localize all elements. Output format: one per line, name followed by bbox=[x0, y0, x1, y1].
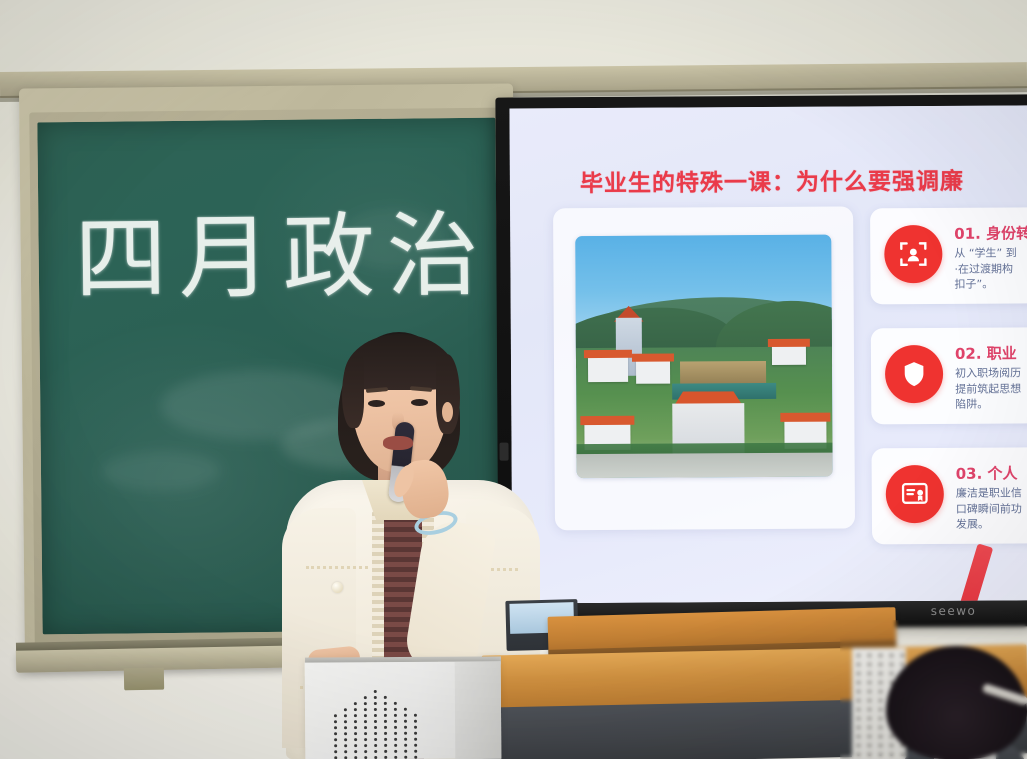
slide-card-03-heading: 03. 个人 bbox=[956, 462, 1027, 484]
chair-perforation-dot bbox=[879, 726, 882, 729]
chair-perforation-dot bbox=[868, 699, 871, 702]
slide-title: 毕业生的特殊一课：为什么要强调廉 bbox=[580, 161, 1027, 198]
blackboard-chalk-text: 四月政治 bbox=[74, 210, 475, 306]
slide-ribbon-decoration bbox=[952, 543, 994, 603]
speaker-grille-dot bbox=[334, 714, 337, 717]
foreground-student bbox=[886, 646, 1027, 759]
speaker-grille-dot bbox=[394, 750, 397, 753]
chair-perforation-dot bbox=[857, 663, 860, 666]
speaker-grille-dot bbox=[414, 744, 417, 747]
speaker-grille-dot bbox=[374, 690, 377, 693]
speaker-grille-dot bbox=[364, 738, 367, 741]
person-in-frame-icon bbox=[884, 225, 942, 283]
photo-building bbox=[636, 360, 670, 384]
slide-card-02-heading: 02. 职业 bbox=[955, 342, 1027, 364]
speaker-grille-dot bbox=[354, 732, 357, 735]
chair-perforation-dot bbox=[857, 672, 860, 675]
chair-perforation-dot bbox=[879, 717, 882, 720]
speaker-grille-dot bbox=[414, 720, 417, 723]
speaker-grille-dot bbox=[374, 696, 377, 699]
student-hair bbox=[886, 646, 1027, 759]
speaker-grille-dot bbox=[404, 732, 407, 735]
speaker-grille-dot bbox=[354, 702, 357, 705]
speaker-grille-dot bbox=[354, 708, 357, 711]
speaker-grille-dot bbox=[404, 708, 407, 711]
speaker-grille-dot bbox=[344, 726, 347, 729]
chair-perforation-dot bbox=[868, 672, 871, 675]
chair-perforation-dot bbox=[857, 654, 860, 657]
speaker-grille-dot bbox=[364, 750, 367, 753]
speaker-grille-dot bbox=[384, 750, 387, 753]
speaker-grille-dot bbox=[384, 702, 387, 705]
speaker-grille-dot bbox=[394, 708, 397, 711]
presentation-slide: 毕业生的特殊一课：为什么要强调廉 bbox=[509, 105, 1027, 603]
slide-card-02-number: 02. bbox=[955, 345, 982, 363]
speaker-grille-dot bbox=[364, 702, 367, 705]
chair-perforation-dot bbox=[868, 654, 871, 657]
photo-roof bbox=[584, 350, 632, 358]
chair-perforation-dot bbox=[868, 681, 871, 684]
speaker-grille-dot bbox=[374, 702, 377, 705]
speaker-grille-dot bbox=[394, 738, 397, 741]
presenter-ear bbox=[442, 402, 453, 422]
photo-building bbox=[588, 356, 628, 382]
panel-screen[interactable]: 毕业生的特殊一课：为什么要强调廉 bbox=[509, 105, 1027, 603]
speaker-grille-dot bbox=[354, 750, 357, 753]
speaker-grille-dot bbox=[394, 714, 397, 717]
photo-roof bbox=[768, 339, 810, 347]
chair-perforation-dot bbox=[879, 690, 882, 693]
slide-card-01-body: 从 “学生” 到 ·在过渡期构 扣子”。 bbox=[954, 245, 1027, 293]
speaker-grille-dot bbox=[394, 756, 397, 759]
chair-perforation-dot bbox=[857, 681, 860, 684]
speaker-grille-dot bbox=[404, 738, 407, 741]
slide-card-01-number: 01. bbox=[954, 225, 981, 243]
chair-perforation-dot bbox=[857, 753, 860, 756]
speaker-grille-dot bbox=[394, 744, 397, 747]
speaker-grille-dot bbox=[334, 732, 337, 735]
chair-perforation-dot bbox=[879, 735, 882, 738]
speaker-grille-dot bbox=[384, 756, 387, 759]
shield-icon bbox=[885, 345, 943, 403]
presenter-hair-right bbox=[436, 354, 460, 434]
chair-perforation-dot bbox=[857, 690, 860, 693]
speaker-grille-dot bbox=[404, 720, 407, 723]
speaker-grille-dot bbox=[384, 744, 387, 747]
speaker-grille-dot bbox=[374, 726, 377, 729]
speaker-grille-dot bbox=[344, 708, 347, 711]
speaker-grille-dot bbox=[334, 750, 337, 753]
speaker-grille-dot bbox=[384, 738, 387, 741]
speaker-grille-dot bbox=[374, 714, 377, 717]
speaker-grille-dot bbox=[384, 696, 387, 699]
slide-photo-card bbox=[553, 206, 855, 530]
speaker-grille-dot bbox=[414, 726, 417, 729]
slide-card-03-body: 廉洁是职业信 口碑瞬间前功 发展。 bbox=[956, 485, 1027, 533]
chair-perforation-dot bbox=[879, 654, 882, 657]
slide-card-01: 01. 身份转 从 “学生” 到 ·在过渡期构 扣子”。 bbox=[870, 207, 1027, 304]
speaker-grille-dot bbox=[364, 708, 367, 711]
chair-perforation-dot bbox=[868, 663, 871, 666]
chair-perforation-dot bbox=[868, 717, 871, 720]
chair-perforation-dot bbox=[857, 735, 860, 738]
speaker-grille-dot bbox=[384, 726, 387, 729]
speaker-grille-dot bbox=[344, 750, 347, 753]
presenter-hair-left bbox=[342, 356, 364, 428]
presenter-jacket-button bbox=[332, 582, 343, 593]
speaker-grille-dot bbox=[364, 726, 367, 729]
chair-perforation-dot bbox=[879, 672, 882, 675]
chair-perforation-dot bbox=[857, 744, 860, 747]
slide-card-01-heading: 01. 身份转 bbox=[954, 222, 1027, 244]
podium-speaker-grille bbox=[330, 688, 422, 759]
slide-card-02-title: 职业 bbox=[987, 344, 1017, 362]
speaker-grille-dot bbox=[354, 738, 357, 741]
speaker-grille-dot bbox=[414, 750, 417, 753]
chalk-tray-bracket bbox=[124, 668, 164, 691]
chair-perforation-dot bbox=[868, 735, 871, 738]
slide-card-03-number: 03. bbox=[956, 465, 983, 483]
panel-brand-label: seewo bbox=[893, 603, 1013, 618]
presenter-eye bbox=[368, 400, 385, 407]
speaker-grille-dot bbox=[354, 720, 357, 723]
speaker-grille-dot bbox=[334, 738, 337, 741]
speaker-grille-dot bbox=[344, 744, 347, 747]
speaker-grille-dot bbox=[374, 732, 377, 735]
speaker-grille-dot bbox=[354, 714, 357, 717]
slide-card-02-body: 初入职场阅历 提前筑起思想 陷阱。 bbox=[955, 365, 1027, 413]
chalk-smudge bbox=[101, 451, 221, 492]
chair-perforation-dot bbox=[857, 699, 860, 702]
campus-aerial-photo bbox=[575, 235, 832, 479]
slide-card-03-title: 个人 bbox=[987, 464, 1017, 482]
slide-card-03: 03. 个人 廉洁是职业信 口碑瞬间前功 发展。 bbox=[872, 447, 1027, 544]
chair-perforation-dot bbox=[879, 699, 882, 702]
speaker-grille-dot bbox=[414, 756, 417, 759]
photo-roof bbox=[632, 354, 674, 362]
speaker-grille-dot bbox=[384, 732, 387, 735]
speaker-grille-dot bbox=[354, 726, 357, 729]
chair-perforation-dot bbox=[868, 726, 871, 729]
speaker-grille-dot bbox=[394, 726, 397, 729]
speaker-grille-dot bbox=[344, 732, 347, 735]
photo-plaza bbox=[577, 453, 833, 479]
speaker-grille-dot bbox=[404, 744, 407, 747]
chair-perforation-dot bbox=[879, 681, 882, 684]
photo-roof bbox=[580, 416, 634, 425]
chair-perforation-dot bbox=[868, 708, 871, 711]
speaker-grille-dot bbox=[364, 732, 367, 735]
chair-perforation-dot bbox=[857, 708, 860, 711]
chair-perforation-dot bbox=[868, 744, 871, 747]
photo-roof bbox=[780, 413, 830, 422]
chair-perforation-dot bbox=[857, 726, 860, 729]
interactive-flat-panel[interactable]: 毕业生的特殊一课：为什么要强调廉 bbox=[495, 94, 1027, 627]
speaker-grille-dot bbox=[344, 738, 347, 741]
classroom-photo: 四月政治 毕业生的特殊一课：为什么要强调廉 bbox=[0, 0, 1027, 759]
speaker-grille-dot bbox=[374, 720, 377, 723]
speaker-grille-dot bbox=[404, 756, 407, 759]
speaker-grille-dot bbox=[404, 750, 407, 753]
speaker-grille-dot bbox=[364, 714, 367, 717]
podium-side bbox=[455, 662, 502, 759]
chair-perforation-dot bbox=[879, 663, 882, 666]
speaker-grille-dot bbox=[414, 714, 417, 717]
presenter-mouth bbox=[383, 436, 413, 450]
speaker-grille-dot bbox=[334, 726, 337, 729]
speaker-grille-dot bbox=[344, 714, 347, 717]
speaker-grille-dot bbox=[364, 696, 367, 699]
speaker-grille-dot bbox=[404, 726, 407, 729]
slide-card-02: 02. 职业 初入职场阅历 提前筑起思想 陷阱。 bbox=[871, 327, 1027, 424]
speaker-grille-dot bbox=[414, 738, 417, 741]
chair-perforation-dot bbox=[879, 744, 882, 747]
certificate-icon bbox=[886, 465, 944, 523]
speaker-grille-dot bbox=[374, 738, 377, 741]
speaker-grille-dot bbox=[384, 714, 387, 717]
speaker-grille-dot bbox=[394, 702, 397, 705]
speaker-grille-dot bbox=[384, 708, 387, 711]
speaker-grille-dot bbox=[374, 750, 377, 753]
speaker-grille-dot bbox=[374, 708, 377, 711]
speaker-grille-dot bbox=[334, 720, 337, 723]
chair-perforation-dot bbox=[879, 708, 882, 711]
speaker-grille-dot bbox=[394, 720, 397, 723]
speaker-grille-dot bbox=[364, 744, 367, 747]
chair-perforation-dot bbox=[857, 717, 860, 720]
speaker-grille-dot bbox=[374, 744, 377, 747]
photo-building bbox=[772, 345, 806, 365]
speaker-grille-dot bbox=[354, 744, 357, 747]
speaker-grille-dot bbox=[404, 714, 407, 717]
speaker-grille-dot bbox=[364, 720, 367, 723]
chair-perforation-dot bbox=[868, 690, 871, 693]
chair-perforation-dot bbox=[879, 753, 882, 756]
speaker-grille-dot bbox=[394, 732, 397, 735]
presenter-eye bbox=[411, 399, 428, 406]
slide-card-01-title: 身份转 bbox=[986, 224, 1027, 242]
speaker-grille-dot bbox=[334, 744, 337, 747]
chair-perforation-dot bbox=[868, 753, 871, 756]
speaker-grille-dot bbox=[344, 720, 347, 723]
speaker-grille-dot bbox=[414, 732, 417, 735]
speaker-grille-dot bbox=[384, 720, 387, 723]
